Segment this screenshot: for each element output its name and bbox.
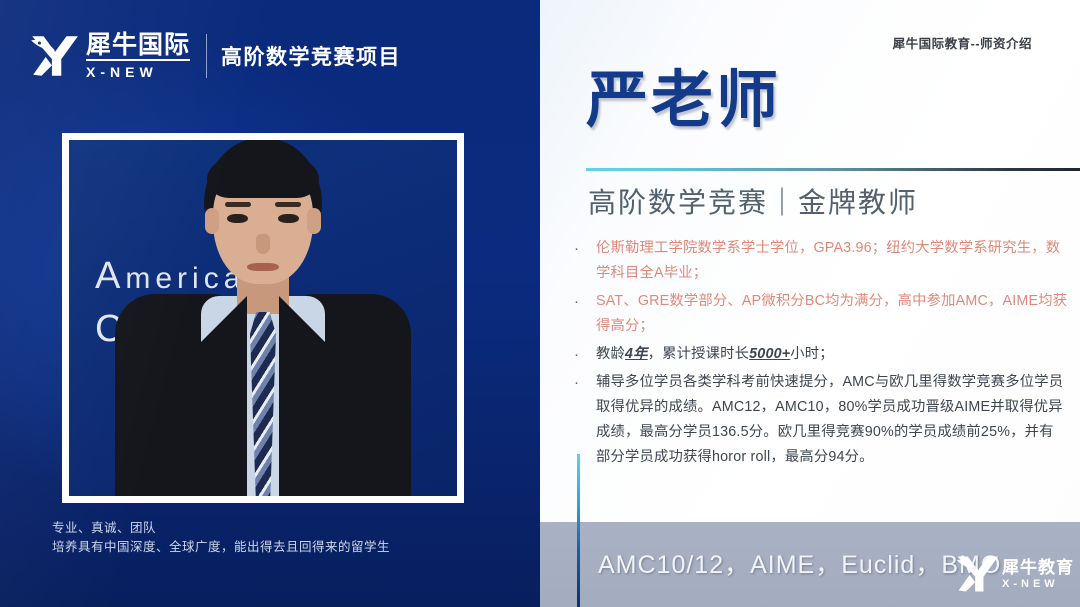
teacher-photo: America Compe [69, 140, 457, 496]
teacher-photo-frame: America Compe [62, 133, 464, 503]
watermark-wordmark: 犀牛教育 X-NEW [1002, 558, 1074, 591]
rhino-x-logo-icon [954, 551, 1000, 597]
bottom-bar: AMC10/12，AIME，Euclid，BMO 犀牛教育 X-NEW [540, 522, 1080, 607]
program-tagline: 高阶数学竞赛项目 [221, 41, 401, 71]
slogan-line-2: 培养具有中国深度、全球广度，能出得去且回得来的留学生 [52, 538, 390, 557]
credential-highlight: 4年 [625, 346, 648, 362]
cyan-accent-line [577, 454, 580, 607]
credential-item: ·辅导多位学员各类学科考前快速提分，AMC与欧几里得数学竞赛多位学员取得优异的成… [568, 370, 1068, 470]
portrait-brow-left [225, 202, 251, 207]
teacher-portrait [113, 140, 413, 496]
credentials-list: ·伦斯勒理工学院数学系学士学位，GPA3.96；纽约大学数学系研究生，数学科目全… [568, 236, 1068, 473]
bullet-dot-icon: · [568, 370, 596, 395]
credential-segment: ，累计授课时长 [648, 346, 749, 362]
left-slogans: 专业、真诚、团队 培养具有中国深度、全球广度，能出得去且回得来的留学生 [52, 519, 390, 557]
credential-text: 辅导多位学员各类学科考前快速提分，AMC与欧几里得数学竞赛多位学员取得优异的成绩… [596, 370, 1068, 470]
credential-segment: 小时； [790, 346, 834, 362]
left-panel: 犀牛国际 X-NEW 高阶数学竞赛项目 America Compe [0, 0, 540, 607]
credential-item: ·伦斯勒理工学院数学系学士学位，GPA3.96；纽约大学数学系研究生，数学科目全… [568, 236, 1068, 286]
credential-segment: SAT、GRE数学部分、AP微积分BC均为满分，高中参加AMC，AIME均获得高… [596, 293, 1067, 334]
credential-text: 教龄4年，累计授课时长5000+小时； [596, 342, 1068, 367]
teacher-name: 严老师 [586, 63, 781, 139]
logo-divider [206, 34, 207, 78]
brand-logo: 犀牛国际 X-NEW 高阶数学竞赛项目 [28, 26, 401, 86]
portrait-mouth [247, 263, 279, 271]
brand-wordmark: 犀牛国际 X-NEW [86, 32, 190, 80]
right-panel: 犀牛国际教育--师资介绍 严老师 高阶数学竞赛｜金牌教师 ·伦斯勒理工学院数学系… [540, 0, 1080, 607]
credential-segment: 教龄 [596, 346, 625, 362]
credential-item: ·教龄4年，累计授课时长5000+小时； [568, 342, 1068, 367]
bullet-dot-icon: · [568, 289, 596, 314]
portrait-nose [256, 234, 270, 254]
credential-highlight: 5000+ [749, 346, 790, 362]
bullet-dot-icon: · [568, 236, 596, 261]
slogan-line-1: 专业、真诚、团队 [52, 519, 390, 538]
credential-text: 伦斯勒理工学院数学系学士学位，GPA3.96；纽约大学数学系研究生，数学科目全A… [596, 236, 1068, 286]
brand-name-cn: 犀牛国际 [86, 32, 190, 61]
credential-text: SAT、GRE数学部分、AP微积分BC均为满分，高中参加AMC，AIME均获得高… [596, 289, 1068, 339]
title-rule-divider [586, 168, 1080, 171]
watermark-name-en: X-NEW [1002, 577, 1074, 591]
portrait-fringe [207, 154, 319, 198]
watermark-name-cn: 犀牛教育 [1002, 558, 1074, 577]
portrait-ear-left [205, 208, 219, 234]
brand-name-en: X-NEW [86, 63, 190, 81]
credential-item: ·SAT、GRE数学部分、AP微积分BC均为满分，高中参加AMC，AIME均获得… [568, 289, 1068, 339]
portrait-eye-left [227, 214, 248, 223]
portrait-ear-right [307, 208, 321, 234]
watermark-logo: 犀牛教育 X-NEW [954, 551, 1074, 597]
competition-list: AMC10/12，AIME，Euclid，BMO [598, 545, 1001, 581]
slide-header-label: 犀牛国际教育--师资介绍 [893, 33, 1032, 52]
bullet-dot-icon: · [568, 342, 596, 367]
credential-segment: 辅导多位学员各类学科考前快速提分，AMC与欧几里得数学竞赛多位学员取得优异的成绩… [596, 374, 1063, 465]
portrait-eye-right [278, 214, 299, 223]
portrait-brow-right [275, 202, 301, 207]
credential-segment: 伦斯勒理工学院数学系学士学位，GPA3.96；纽约大学数学系研究生，数学科目全A… [596, 240, 1060, 281]
slide-canvas: 犀牛国际 X-NEW 高阶数学竞赛项目 America Compe [0, 0, 1080, 607]
teacher-role: 高阶数学竞赛｜金牌教师 [588, 181, 918, 221]
rhino-x-logo-icon [28, 30, 80, 82]
